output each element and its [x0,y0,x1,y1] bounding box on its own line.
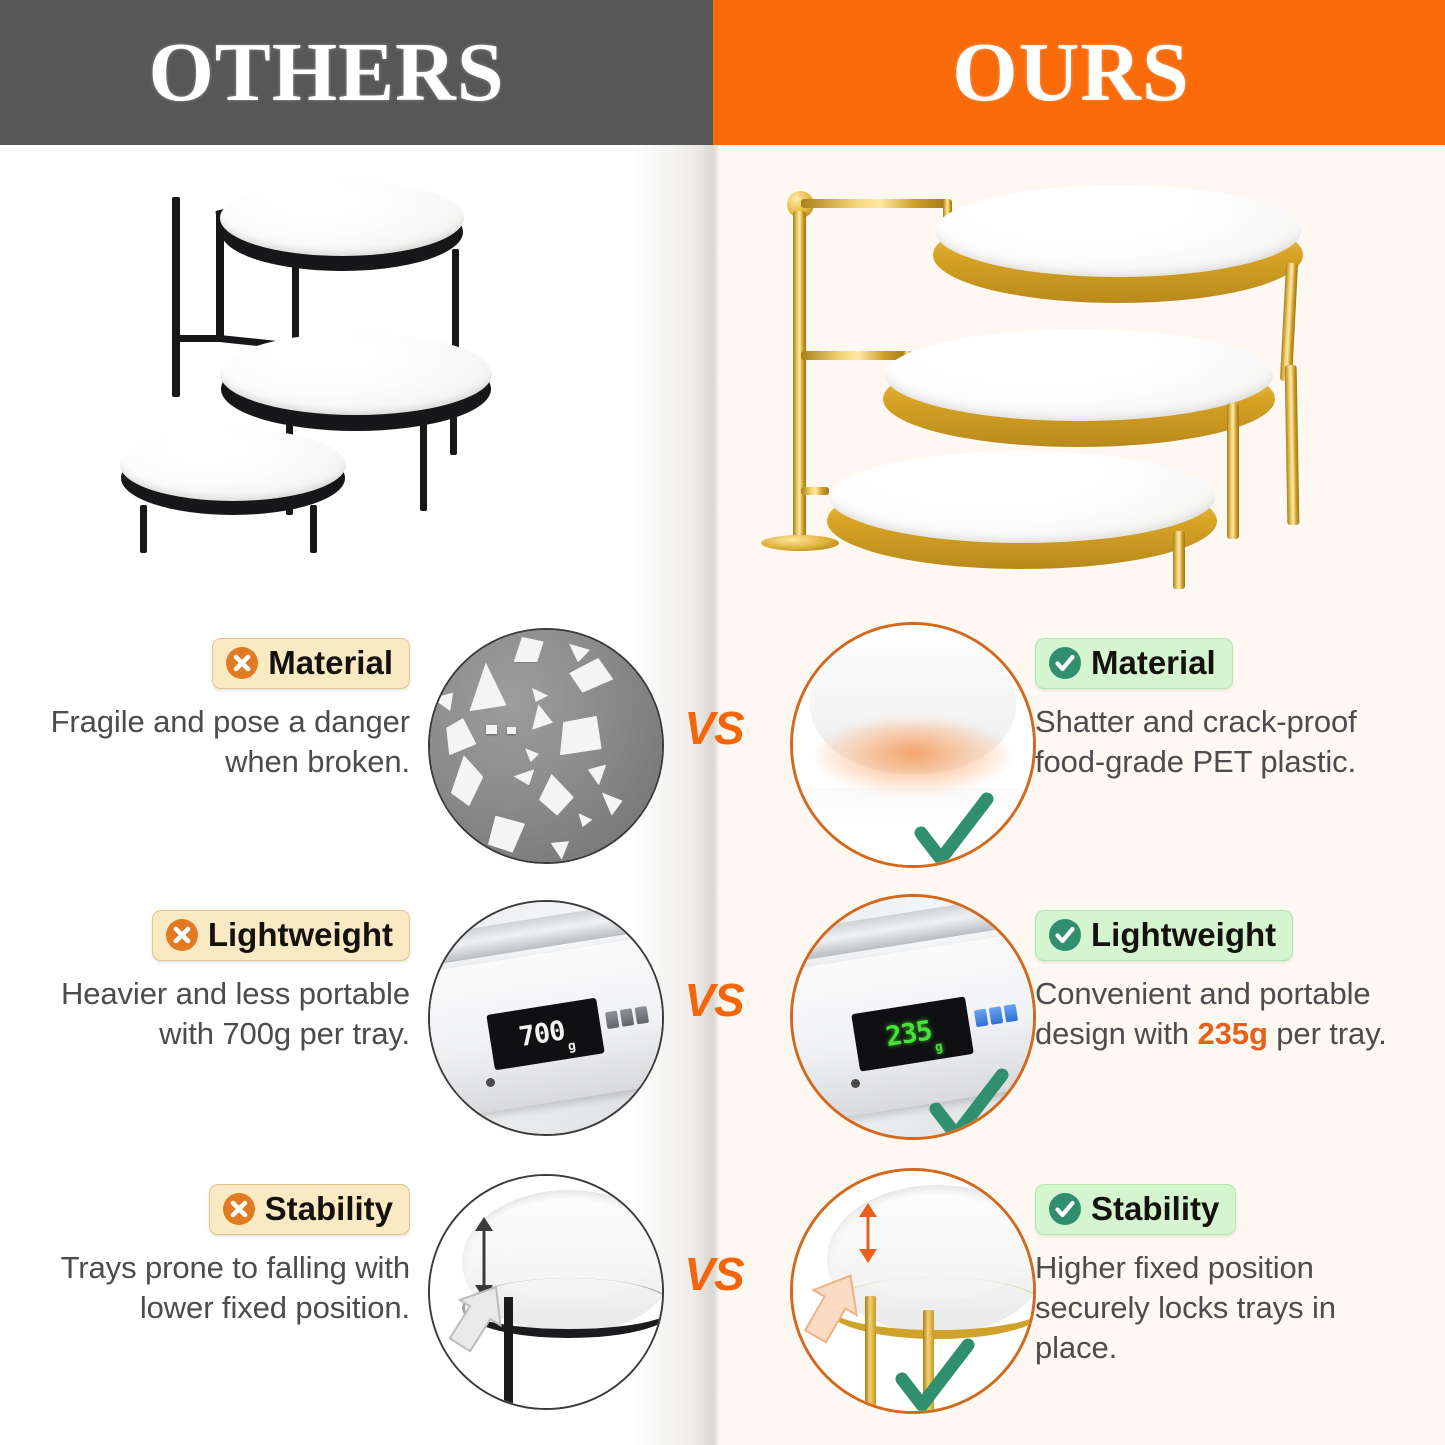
gold-tiered-stand-illustration [743,155,1403,585]
vs-label-stability: VS [678,1251,750,1297]
check-circle-icon [1048,646,1082,680]
scale-scene-others: 700 g [430,902,662,1134]
others-lightweight-description: Heavier and less portable with 700g per … [40,974,410,1055]
others-material-badge-label: Material [268,645,393,681]
feature-row-stability: Stability Trays prone to falling with lo… [0,1156,1445,1426]
ours-material-badge-label: Material [1091,645,1216,681]
ours-material-badge: Material [1035,638,1233,689]
scale-scene-ours: 235 g [793,897,1033,1137]
tray-edge-scene-others [430,1176,662,1408]
comparison-header: OTHERS OURS [0,0,1445,145]
scale-reading-value: 235 [884,1017,933,1051]
scale-reading-unit: g [934,1040,943,1054]
others-material-text-block: Material Fragile and pose a danger when … [40,638,410,782]
ours-lightweight-text-block: Lightweight Convenient and portable desi… [1035,910,1420,1054]
others-lightweight-badge: Lightweight [152,910,410,961]
tray-edge-scene-ours [793,1171,1033,1411]
ours-lightweight-description: Convenient and portable design with 235g… [1035,974,1420,1055]
others-lightweight-badge-label: Lightweight [208,917,393,953]
ours-stability-description: Higher fixed position securely locks tra… [1035,1248,1420,1369]
tray-edge-gold-stand-photo [790,1168,1036,1414]
scale-reading-value: 700 [517,1018,566,1052]
header-others-title: OTHERS [148,31,504,115]
x-circle-icon [222,1192,256,1226]
vs-label-material: VS [678,705,750,751]
x-circle-icon [225,646,259,680]
header-others-cell: OTHERS [0,0,713,145]
hero-product-section [0,145,1445,610]
tray-edge-black-stand-photo [428,1174,664,1410]
hero-ours-image [713,145,1445,610]
comparison-infographic: OTHERS OURS [0,0,1445,1445]
ours-lightweight-badge: Lightweight [1035,910,1293,961]
scale-indicator-dot [486,1078,495,1087]
check-circle-icon [1048,1192,1082,1226]
feature-rows: Material Fragile and pose a danger when … [0,610,1445,1445]
scale-button[interactable] [989,1007,1004,1026]
hero-others-image [0,145,713,610]
others-stability-text-block: Stability Trays prone to falling with lo… [40,1184,410,1328]
others-lightweight-text-block: Lightweight Heavier and less portable wi… [40,910,410,1054]
green-check-icon [907,783,999,868]
scale-indicator-dot [851,1079,860,1088]
ours-stability-text-block: Stability Higher fixed position securely… [1035,1184,1420,1369]
black-tiered-stand-illustration [120,175,640,575]
pet-plastic-plate-closeup-photo [790,622,1036,868]
scale-button[interactable] [620,1008,635,1027]
desc-suffix: per tray. [1268,1016,1387,1051]
others-stability-badge: Stability [209,1184,410,1235]
green-check-icon [922,1059,1014,1140]
green-check-icon [888,1329,980,1414]
double-arrow-icon [851,1200,885,1266]
ours-material-text-block: Material Shatter and crack-proof food-gr… [1035,638,1420,782]
header-ours-cell: OURS [713,0,1445,145]
x-circle-icon [165,918,199,952]
shards-scene [430,630,662,862]
ours-lightweight-badge-label: Lightweight [1091,917,1276,953]
others-stability-description: Trays prone to falling with lower fixed … [40,1248,410,1329]
scale-button[interactable] [974,1009,989,1028]
others-material-badge: Material [212,638,410,689]
scale-reading-unit: g [567,1040,576,1054]
ours-stability-badge: Stability [1035,1184,1236,1235]
header-ours-title: OURS [952,31,1189,115]
feature-row-lightweight: Lightweight Heavier and less portable wi… [0,882,1445,1152]
weight-highlight: 235g [1198,1016,1268,1051]
plate-closeup-scene [793,625,1033,865]
ours-material-description: Shatter and crack-proof food-grade PET p… [1035,702,1420,783]
vs-label-lightweight: VS [678,977,750,1023]
up-arrow-icon [449,1278,507,1356]
kitchen-scale-235g-photo: 235 g [790,894,1036,1140]
feature-row-material: Material Fragile and pose a danger when … [0,610,1445,880]
ours-stability-badge-label: Stability [1091,1191,1219,1227]
check-circle-icon [1048,918,1082,952]
others-material-description: Fragile and pose a danger when broken. [40,702,410,783]
scale-button[interactable] [605,1010,620,1029]
others-stability-badge-label: Stability [265,1191,393,1227]
broken-ceramic-shards-photo [428,628,664,864]
kitchen-scale-700g-photo: 700 g [428,900,664,1136]
up-arrow-icon [803,1267,863,1347]
